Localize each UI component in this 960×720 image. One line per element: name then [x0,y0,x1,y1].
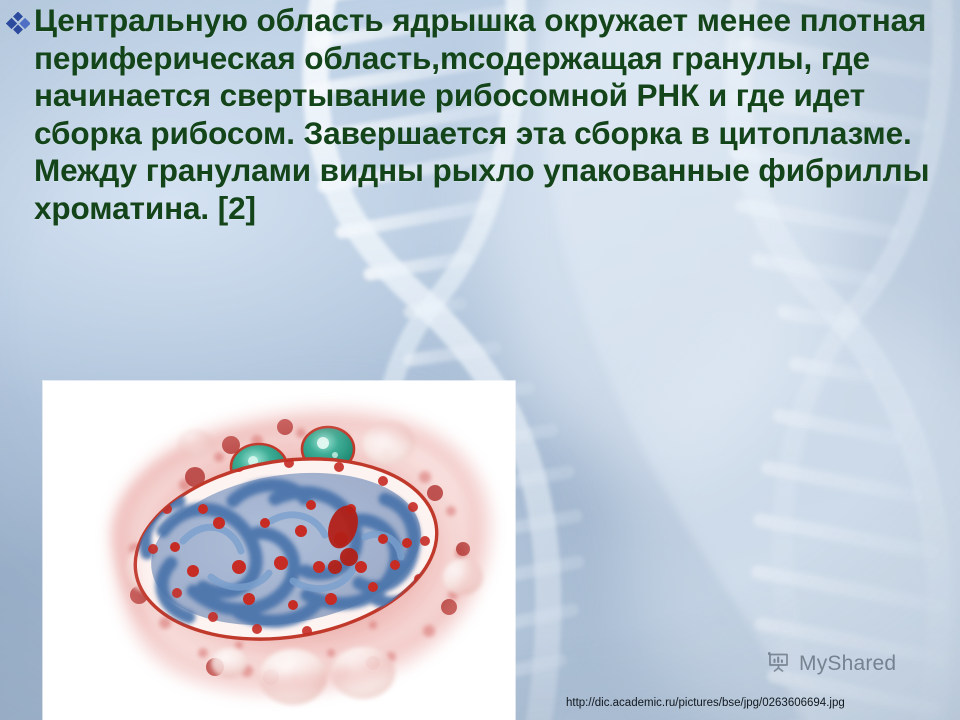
presentation-chart-icon [766,648,792,679]
diamond-cluster-bullet-icon [4,6,34,50]
presentation-slide: Центральную область ядрышка окружает мен… [0,0,960,720]
slide-text-block: Центральную область ядрышка окружает мен… [4,2,954,227]
source-url-caption: http://dic.academic.ru/pictures/bse/jpg/… [566,697,960,709]
myshared-watermark: MyShared [766,648,896,679]
myshared-label: MyShared [799,652,896,676]
nucleolus-micrograph-figure [43,381,515,720]
slide-body-text: Центральную область ядрышка окружает мен… [34,2,954,227]
cell-nucleus-illustration [43,381,515,720]
